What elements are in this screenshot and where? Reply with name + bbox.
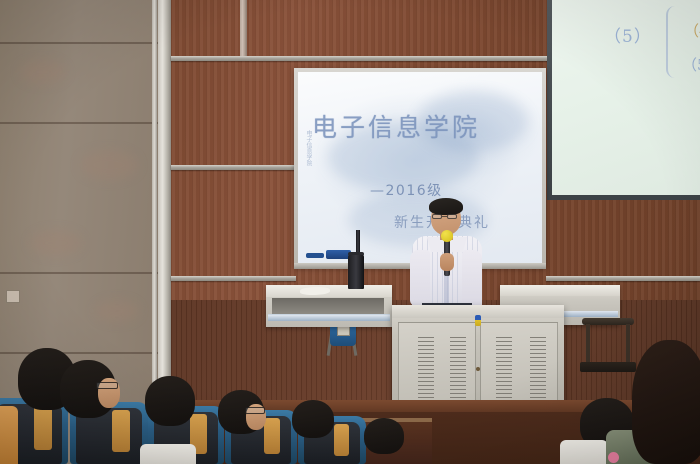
presenter-arm-left xyxy=(410,250,430,306)
person-5-head xyxy=(292,400,334,438)
lecture-hall-photo: （5） （4 （5 电子信息学院 电子信息学院 —2016级 新生开学典礼 xyxy=(0,0,700,464)
presenter-hair xyxy=(429,198,463,215)
presenter-glasses-left xyxy=(432,214,442,219)
whiteboard-title-text: 电子信息学院 xyxy=(312,108,520,144)
hair-clip-icon xyxy=(608,452,619,463)
person-3-head xyxy=(145,376,195,426)
screen-number-label: （5） xyxy=(604,22,652,47)
screen-right-label-bottom: （5 xyxy=(682,54,700,75)
screen-right-label-top: （4 xyxy=(684,20,700,41)
person-8-shirt xyxy=(560,440,608,464)
person-1-shirt xyxy=(0,406,18,464)
whiteboard-line2-text: —2016级 xyxy=(370,180,443,200)
presenter-glasses-bridge xyxy=(442,216,447,217)
audience xyxy=(0,344,700,464)
person-2-glasses-icon xyxy=(96,382,118,389)
presenter-hand xyxy=(440,253,454,271)
wall-trim-4 xyxy=(546,276,700,281)
projector-screen: （5） （4 （5 xyxy=(547,0,700,200)
wall-trim-2 xyxy=(171,165,296,170)
person-7-head xyxy=(632,340,700,464)
presenter xyxy=(404,198,488,310)
person-4-glasses-icon xyxy=(245,407,265,414)
person-3-shirt xyxy=(140,444,196,464)
wall-pillar-upper xyxy=(240,0,247,56)
whiteboard-marker xyxy=(306,253,324,258)
wall-trim-3 xyxy=(171,276,296,281)
cabinet-lock-icon xyxy=(475,315,481,326)
screen-bracket-icon xyxy=(666,6,678,78)
microphone-head-icon xyxy=(441,230,453,242)
thermos xyxy=(348,255,364,289)
presenter-arm-right xyxy=(462,250,482,306)
wall-outlet-icon xyxy=(6,290,20,303)
person-6-head xyxy=(364,418,404,454)
presenter-glasses-right xyxy=(447,214,457,219)
